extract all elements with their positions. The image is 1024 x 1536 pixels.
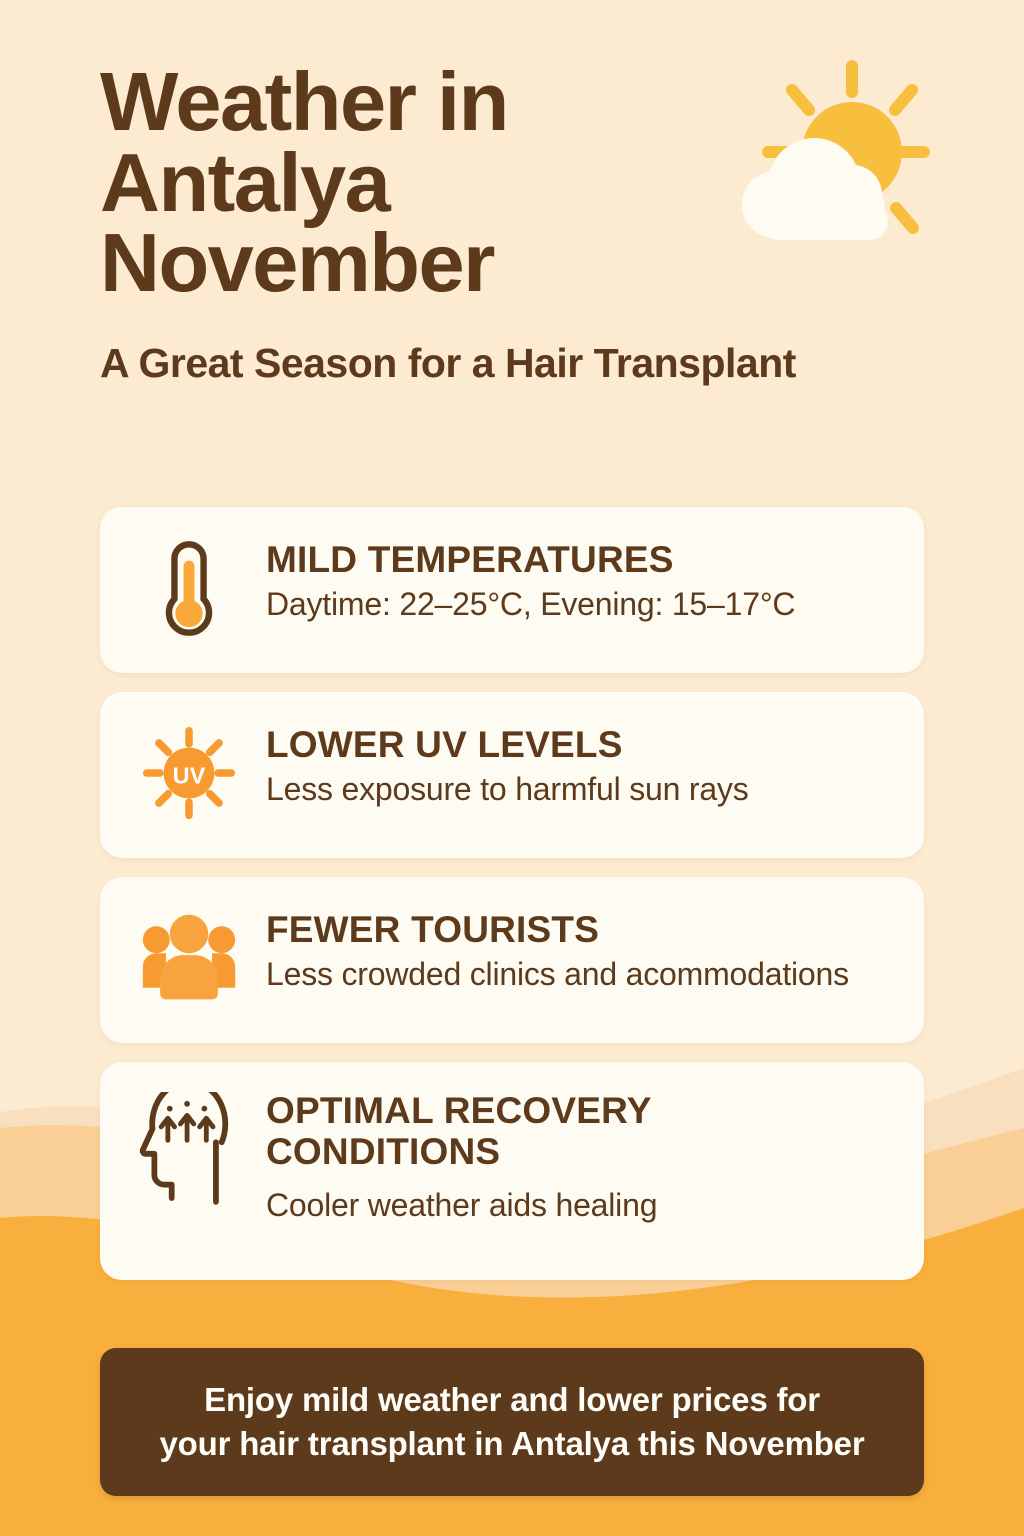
card-title: MILD TEMPERATURES [266,539,795,580]
feature-card-list: MILD TEMPERATURES Daytime: 22–25°C, Even… [100,507,924,1280]
card-description: Cooler weather aids healing [266,1187,894,1224]
card-description: Daytime: 22–25°C, Evening: 15–17°C [266,586,795,623]
card-description: Less crowded clinics and acommodations [266,956,849,993]
card-description: Less exposure to harmful sun rays [266,771,749,808]
thermometer-icon [134,533,244,643]
card-title: FEWER TOURISTS [266,909,849,950]
card-title: OPTIMAL RECOVERY CONDITIONS [266,1090,894,1173]
growth-arrows-icon [161,1115,213,1140]
head-hair-growth-icon [134,1088,244,1198]
growth-dots-icon [167,1101,207,1112]
cta-text: Enjoy mild weather and lower prices for … [134,1378,891,1465]
card-text-block: OPTIMAL RECOVERY CONDITIONS Cooler weath… [244,1088,894,1224]
feature-card-optimal-recovery-conditions: OPTIMAL RECOVERY CONDITIONS Cooler weath… [100,1062,924,1280]
uv-icon-label: UV [173,762,206,788]
card-text-block: LOWER UV LEVELS Less exposure to harmful… [244,718,749,808]
cta-banner: Enjoy mild weather and lower prices for … [100,1348,924,1496]
group-of-people-icon [134,903,244,1013]
header: Weather in Antalya November A Great Seas… [0,0,1024,387]
feature-card-fewer-tourists: FEWER TOURISTS Less crowded clinics and … [100,877,924,1043]
card-text-block: MILD TEMPERATURES Daytime: 22–25°C, Even… [244,533,795,623]
card-title: LOWER UV LEVELS [266,724,749,765]
feature-card-mild-temperatures: MILD TEMPERATURES Daytime: 22–25°C, Even… [100,507,924,673]
page-title: Weather in Antalya November [100,62,660,304]
page-subtitle: A Great Season for a Hair Transplant [100,340,1024,387]
card-text-block: FEWER TOURISTS Less crowded clinics and … [244,903,849,993]
feature-card-lower-uv-levels: UV LOWER UV LEVELS Less exposure to harm… [100,692,924,858]
uv-sun-icon: UV [134,718,244,828]
